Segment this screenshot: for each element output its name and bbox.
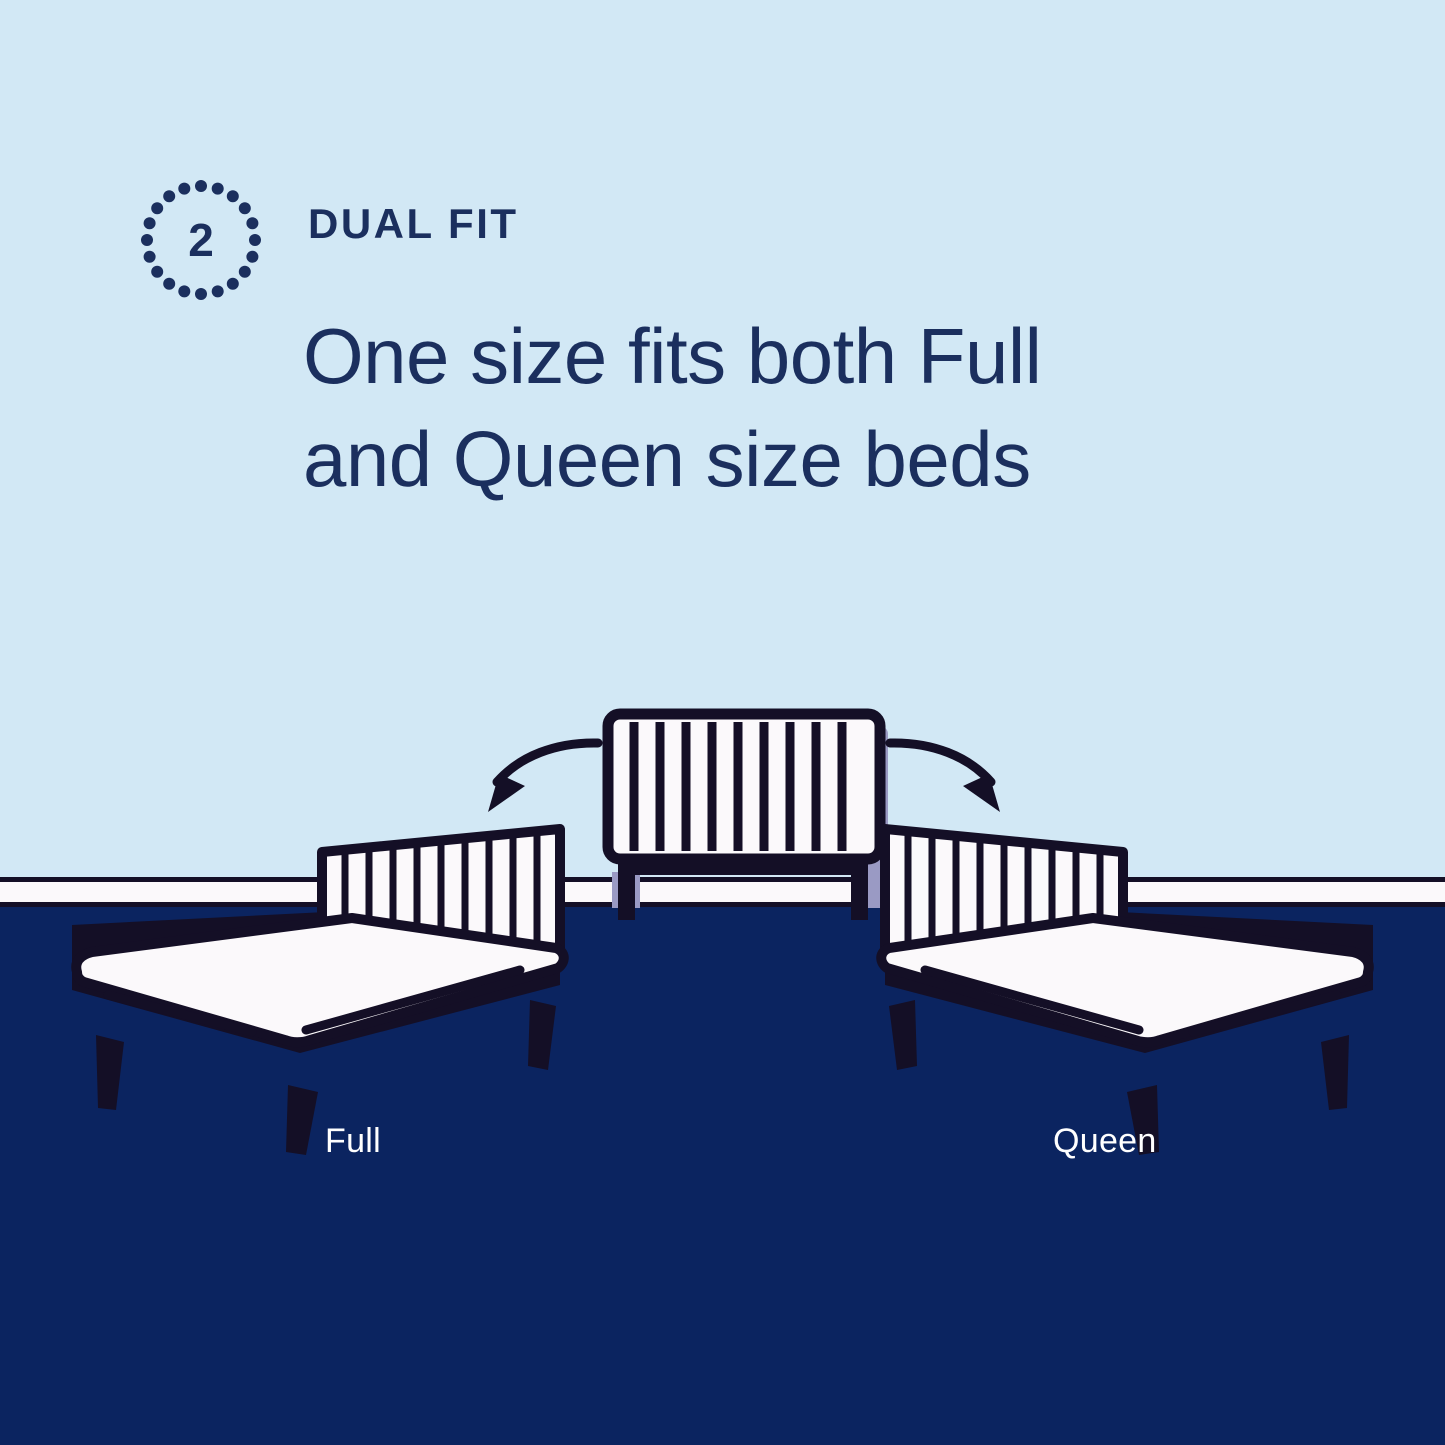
bed-label-full: Full — [325, 1122, 381, 1161]
infographic-scene: 2 DUAL FIT One size fits both Full and Q… — [0, 0, 1445, 1445]
full-bed — [72, 829, 564, 1155]
standalone-headboard — [608, 714, 889, 920]
bed-illustration — [0, 0, 1445, 1445]
arrow-to-queen-icon — [890, 743, 1000, 812]
arrow-to-full-icon — [488, 743, 598, 812]
queen-bed — [881, 829, 1373, 1155]
bed-label-queen: Queen — [1053, 1122, 1157, 1161]
